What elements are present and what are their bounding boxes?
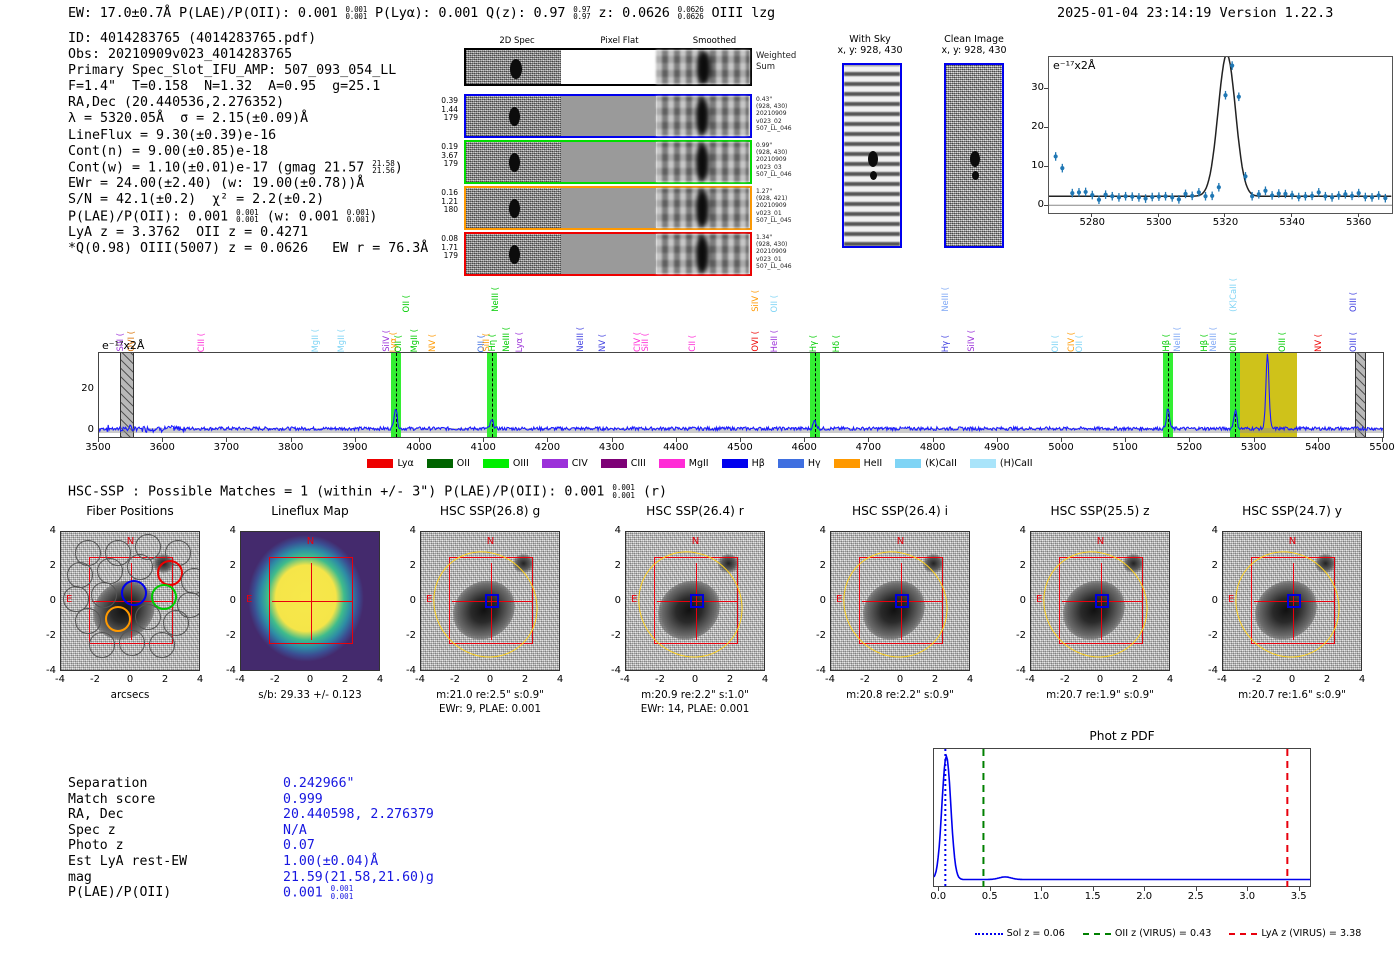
fiber-2dspec	[466, 188, 561, 228]
spectrum-xtick: 5300	[1234, 442, 1274, 453]
fiber-circle	[97, 558, 123, 584]
fiber-strip-metrics: 0.193.67179	[422, 143, 458, 169]
table-value: 0.999	[283, 792, 323, 808]
fiber-smoothed	[656, 234, 749, 274]
panel-image: NE	[420, 531, 560, 671]
panel-title: HSC SSP(25.5) z	[1030, 504, 1170, 518]
panel-ytick: 4	[806, 525, 826, 536]
detection-marker	[1095, 594, 1109, 607]
crosshair-horizontal	[272, 601, 353, 602]
plae-ratio-bounds: 0.0010.001	[345, 6, 367, 21]
info-ewr: EWr = 24.00(±2.40) (w: 19.00(±0.78))Å	[68, 176, 428, 192]
panel-ytick: 2	[1198, 560, 1218, 571]
legend-label: Lyα	[397, 458, 413, 469]
spectrum-legend-item: OII	[427, 458, 470, 469]
hsc-panel[interactable]: Lineflux MapNE-4-4-2-2002244s/b: 29.33 +…	[240, 531, 380, 671]
panel-ytick: -4	[601, 665, 621, 676]
emission-line-label: (K)CaII (	[1228, 278, 1238, 312]
fiber-2dspec	[466, 142, 561, 182]
fiber-strip	[464, 94, 752, 138]
fiber-pixelflat	[561, 96, 656, 136]
header-z-suffix: OIII lzg	[704, 5, 775, 21]
zoom-plot-units: e⁻¹⁷x2Å	[1053, 59, 1095, 72]
photz-pdf-title: Phot z PDF	[933, 729, 1311, 743]
panel-xtick: 2	[716, 674, 744, 685]
photz-xtick: 2.5	[1178, 891, 1214, 902]
emission-line-label: OII (	[1074, 335, 1084, 352]
hsc-panel[interactable]: Fiber PositionsNE-4-4-2-2002244arcsecs	[60, 531, 200, 671]
info-sn-chi2: S/N = 42.1(±0.2) χ² = 2.2(±0.2)	[68, 192, 428, 208]
info-plae-bounds: 0.0010.001	[236, 209, 259, 224]
info-cont-n: Cont(n) = 9.00(±0.85)e-18	[68, 144, 428, 160]
panel-ytick: 4	[36, 525, 56, 536]
clean-image-title: Clean Image x, y: 928, 430	[918, 34, 1030, 56]
fiber-circle	[89, 632, 115, 658]
panel-title: HSC SSP(26.4) r	[625, 504, 765, 518]
panel-caption-1: s/b: 29.33 +/- 0.123	[222, 689, 398, 702]
spectrum-xtick: 4900	[977, 442, 1017, 453]
spectrum-ytick: 0	[72, 424, 94, 435]
panel-xtick: -2	[441, 674, 469, 685]
fiber-strip-id: 0.43"(928, 430)20210909v023_02507_LL_046	[756, 96, 816, 132]
panel-xtick: 0	[296, 674, 324, 685]
panel-caption-1: arcsecs	[42, 689, 218, 702]
z-bounds: 0.06260.0626	[678, 6, 704, 21]
spectrum-ytick: 20	[72, 383, 94, 394]
emission-line-label: MgII (	[310, 329, 320, 352]
emission-line-label: OIII (	[1348, 292, 1358, 312]
photz-legend-item: OII z (VIRUS) = 0.43	[1083, 928, 1212, 939]
montage-col-title-2dspec: 2D Spec	[462, 36, 572, 46]
legend-swatch	[834, 459, 860, 468]
panel-xtick: 2	[331, 674, 359, 685]
fiber-circle	[149, 632, 175, 658]
fiber-strip-id: 1.27"(928, 421)20210909v023_01507_LL_045	[756, 188, 816, 224]
panel-xtick: 4	[546, 674, 574, 685]
panel-image: NE	[1222, 531, 1362, 671]
with-sky-title: With Sky x, y: 928, 430	[818, 34, 922, 56]
compass-east: E	[66, 594, 72, 605]
spectrum-legend-item: Hβ	[722, 458, 765, 469]
photz-xtick: 1.0	[1023, 891, 1059, 902]
compass-east: E	[426, 594, 432, 605]
panel-ytick: 4	[396, 525, 416, 536]
panel-ytick: -2	[216, 630, 236, 641]
spectrum-legend-item: Lyα	[367, 458, 413, 469]
panel-ytick: -2	[806, 630, 826, 641]
info-radec: RA,Dec (20.440536,2.276352)	[68, 95, 428, 111]
panel-ytick: 0	[396, 595, 416, 606]
fiber-circle	[127, 554, 153, 580]
fiber-circle	[181, 568, 200, 594]
panel-ytick: -4	[1006, 665, 1026, 676]
legend-label: (K)CaII	[925, 458, 957, 469]
info-plae-poii: P(LAE)/P(OII): 0.001 0.0010.001 (w: 0.00…	[68, 209, 428, 226]
emission-line-label: NeIII (	[501, 327, 511, 352]
panel-ytick: 0	[1198, 595, 1218, 606]
photz-legend-item: Sol z = 0.06	[975, 928, 1065, 939]
emission-line-label: OII (	[1050, 335, 1060, 352]
legend-label: OIII	[513, 458, 529, 469]
panel-image: NE	[240, 531, 380, 671]
photz-xtick: 3.0	[1229, 891, 1265, 902]
fiber-strip-metrics: 0.161.21180	[422, 189, 458, 215]
zoom-xtick: 5340	[1274, 217, 1310, 228]
panel-ytick: 0	[36, 595, 56, 606]
detection-marker	[895, 594, 909, 607]
panel-image: NE	[830, 531, 970, 671]
panel-ytick: 2	[1006, 560, 1026, 571]
fiber-smoothed	[656, 142, 749, 182]
spectrum-legend: LyαOIIOIIICIVCIIIMgIIHβHγHeII(K)CaII(H)C…	[0, 458, 1400, 469]
emission-line-label: Hη (	[487, 334, 497, 352]
with-sky-image	[842, 63, 902, 248]
emission-line-label: NeIII (	[575, 327, 585, 352]
compass-north: N	[487, 536, 494, 547]
table-key: Est LyA rest-EW	[68, 854, 187, 870]
hsc-panel[interactable]: HSC SSP(26.4) rNE-4-4-2-2002244m:20.9 re…	[625, 531, 765, 671]
fiber-strip-metrics: 0.081.71179	[422, 235, 458, 261]
panel-xtick: 2	[511, 674, 539, 685]
table-key: Match score	[68, 792, 155, 808]
fiber-circle	[105, 606, 131, 632]
hsc-plae-bounds: 0.0010.001	[612, 484, 635, 499]
spectrum-xtick: 4200	[527, 442, 567, 453]
weighted-sum-2dspec	[466, 50, 561, 84]
info-obs: Obs: 20210909v023_4014283765	[68, 47, 428, 63]
panel-image: NE	[1030, 531, 1170, 671]
weighted-sum-strip	[464, 48, 752, 86]
legend-label: Hγ	[808, 458, 821, 469]
legend-swatch	[601, 459, 627, 468]
photz-xtick: 0.0	[920, 891, 956, 902]
panel-ytick: -4	[216, 665, 236, 676]
panel-ytick: -4	[806, 665, 826, 676]
montage-col-title-smoothed: Smoothed	[667, 36, 762, 46]
header-timestamp-version: 2025-01-04 23:14:19 Version 1.22.3	[1057, 5, 1333, 21]
panel-xtick: 2	[921, 674, 949, 685]
emission-line-label: NeIII (	[940, 287, 950, 312]
compass-north: N	[897, 536, 904, 547]
spectrum-legend-item: CIV	[542, 458, 588, 469]
table-key: P(LAE)/P(OII)	[68, 885, 171, 901]
fiber-pixelflat	[561, 234, 656, 274]
gmag-bounds: 21.5821.56	[372, 160, 395, 175]
compass-east: E	[631, 594, 637, 605]
compass-east: E	[836, 594, 842, 605]
panel-ytick: -2	[396, 630, 416, 641]
panel-caption-1: m:21.0 re:2.5" s:0.9"	[402, 689, 578, 702]
legend-line-swatch	[1229, 933, 1257, 935]
emission-line-label: CIII (	[196, 333, 206, 352]
fiber-strip-metrics: 0.391.44179	[422, 97, 458, 123]
panel-xtick: 4	[1348, 674, 1376, 685]
info-lineflux: LineFlux = 9.30(±0.39)e-16	[68, 128, 428, 144]
table-key: Spec z	[68, 823, 116, 839]
panel-ytick: -4	[1198, 665, 1218, 676]
panel-ytick: 0	[806, 595, 826, 606]
spectrum-legend-item: Hγ	[778, 458, 821, 469]
panel-xtick: 0	[476, 674, 504, 685]
emission-line-label: NeIII (	[1172, 327, 1182, 352]
table-value: 20.440598, 2.276379	[283, 807, 434, 823]
detection-marker	[485, 594, 499, 607]
table-value: 0.242966"	[283, 776, 354, 792]
panel-ytick: 4	[1006, 525, 1026, 536]
info-cont-w: Cont(w) = 1.10(±0.01)e-17 (gmag 21.57 21…	[68, 160, 428, 177]
weighted-sum-pixelflat	[561, 50, 656, 84]
photz-xtick: 2.0	[1126, 891, 1162, 902]
photz-legend-item: LyA z (VIRUS) = 3.38	[1229, 928, 1361, 939]
header-plya-qz: P(Lyα): 0.001 Q(z): 0.97	[367, 5, 573, 21]
legend-swatch	[659, 459, 685, 468]
zoom-xtick: 5280	[1074, 217, 1110, 228]
legend-swatch	[483, 459, 509, 468]
legend-label: OII z (VIRUS) = 0.43	[1115, 928, 1212, 939]
panel-caption-1: m:20.7 re:1.9" s:0.9"	[1012, 689, 1188, 702]
panel-xtick: -2	[1051, 674, 1079, 685]
panel-ytick: -2	[1198, 630, 1218, 641]
emission-line-label: Hγ (	[940, 335, 950, 352]
panel-xtick: 2	[151, 674, 179, 685]
panel-image: NE	[625, 531, 765, 671]
zoom-line-plot: e⁻¹⁷x2Å 528053005320534053600102030	[1048, 56, 1393, 238]
panel-xtick: -2	[1243, 674, 1271, 685]
panel-image: NE	[60, 531, 200, 671]
panel-ytick: 2	[36, 560, 56, 571]
table-value: 1.00(±0.04)Å	[283, 854, 378, 870]
legend-swatch	[367, 459, 393, 468]
emission-line-label: MgII (	[336, 329, 346, 352]
panel-title: HSC SSP(24.7) y	[1222, 504, 1362, 518]
panel-xtick: 2	[1121, 674, 1149, 685]
hsc-panel[interactable]: HSC SSP(24.7) yNE-4-4-2-2002244m:20.7 re…	[1222, 531, 1362, 671]
panel-ytick: -4	[36, 665, 56, 676]
zoom-ytick: 30	[1024, 82, 1044, 93]
fiber-circle	[67, 562, 93, 588]
spectrum-legend-item: MgII	[659, 458, 709, 469]
panel-ytick: 0	[601, 595, 621, 606]
spectrum-xtick: 3600	[142, 442, 182, 453]
legend-swatch	[427, 459, 453, 468]
zoom-ytick: 0	[1024, 199, 1044, 210]
emission-line-label: OII (	[393, 335, 403, 352]
fiber-pixelflat	[561, 188, 656, 228]
emission-line-label: Hβ (	[1161, 334, 1171, 352]
panel-ytick: 2	[396, 560, 416, 571]
hsc-ssp-header: HSC-SSP : Possible Matches = 1 (within +…	[68, 484, 667, 500]
hsc-panel[interactable]: HSC SSP(26.8) gNE-4-4-2-2002244m:21.0 re…	[420, 531, 560, 671]
spectrum-legend-item: (K)CaII	[895, 458, 957, 469]
fiber-strip-id: 0.99"(928, 430)20210909v023_03507_LL_046	[756, 142, 816, 178]
compass-north: N	[1097, 536, 1104, 547]
panel-ytick: -2	[36, 630, 56, 641]
compass-north: N	[307, 536, 314, 547]
compass-east: E	[246, 594, 252, 605]
info-id: ID: 4014283765 (4014283765.pdf)	[68, 31, 428, 47]
zoom-ytick: 20	[1024, 121, 1044, 132]
table-value: 0.07	[283, 838, 315, 854]
info-primary-spec-slot: Primary Spec_Slot_IFU_AMP: 507_093_054_L…	[68, 63, 428, 79]
spectrum-xtick: 4700	[848, 442, 888, 453]
emission-line-label: Hδ (	[831, 335, 841, 352]
panel-xtick: -2	[81, 674, 109, 685]
detection-marker	[690, 594, 704, 607]
fiber-2dspec	[466, 96, 561, 136]
fiber-smoothed	[656, 96, 749, 136]
panel-ytick: 0	[216, 595, 236, 606]
fiber-pixelflat	[561, 142, 656, 182]
weighted-sum-smoothed	[656, 50, 750, 84]
emission-line-label: NV (	[1313, 334, 1323, 352]
panel-ytick: 2	[216, 560, 236, 571]
legend-swatch	[970, 459, 996, 468]
photz-legend: Sol z = 0.06OII z (VIRUS) = 0.43LyA z (V…	[933, 928, 1400, 939]
zoom-xtick: 5320	[1207, 217, 1243, 228]
full-spectrum-plot: SiII (OVI (CIII (MgII (MgII (SiIV (Lyα (…	[98, 352, 1384, 438]
fiber-circle	[91, 582, 117, 608]
table-value: N/A	[283, 823, 307, 839]
info-plae-w-bounds: 0.0010.001	[347, 209, 370, 224]
legend-label: CIV	[572, 458, 588, 469]
panel-ytick: 4	[601, 525, 621, 536]
emission-line-label: HeII (	[769, 330, 779, 352]
panel-xtick: 2	[1313, 674, 1341, 685]
spectrum-xtick: 5000	[1041, 442, 1081, 453]
panel-ytick: 4	[1198, 525, 1218, 536]
photz-pdf-plot: 0.00.51.01.52.02.53.03.5	[933, 748, 1311, 909]
compass-north: N	[692, 536, 699, 547]
emission-line-label: CII (	[687, 335, 697, 352]
header-ew-plae: EW: 17.0±0.7Å P(LAE)/P(OII): 0.001	[68, 5, 345, 21]
panel-caption-2: EWr: 14, PLAE: 0.001	[607, 703, 783, 716]
emission-line-label: NV (	[597, 334, 607, 352]
legend-label: HeII	[864, 458, 883, 469]
info-fwhm-throughput: F=1.4" T=0.158 N=1.32 A=0.95 g=25.1	[68, 79, 428, 95]
emission-line-label: OII (	[401, 295, 411, 312]
legend-swatch	[722, 459, 748, 468]
panel-ytick: 4	[216, 525, 236, 536]
spectrum-xtick: 4300	[592, 442, 632, 453]
emission-line-label: Hγ (	[808, 335, 818, 352]
table-value: 21.59(21.58,21.60)g	[283, 870, 434, 886]
spectrum-legend-item: HeII	[834, 458, 883, 469]
hsc-panel[interactable]: HSC SSP(26.4) iNE-4-4-2-2002244m:20.8 re…	[830, 531, 970, 671]
detection-marker	[1287, 594, 1301, 607]
panel-xtick: 0	[1086, 674, 1114, 685]
photz-xtick: 3.5	[1281, 891, 1317, 902]
fiber-strip-id: 1.34"(928, 430)20210909v023_01507_LL_046	[756, 234, 816, 270]
fiber-strip	[464, 186, 752, 230]
spectrum-units: e⁻¹⁷x2Å	[102, 339, 144, 352]
fiber-circle	[119, 630, 145, 656]
table-key: RA, Dec	[68, 807, 124, 823]
legend-swatch	[895, 459, 921, 468]
legend-swatch	[542, 459, 568, 468]
compass-north: N	[127, 536, 134, 547]
panel-xtick: 4	[1156, 674, 1184, 685]
panel-xtick: 0	[886, 674, 914, 685]
compass-east: E	[1228, 594, 1234, 605]
zoom-xtick: 5300	[1141, 217, 1177, 228]
emission-line-label: MgII (	[409, 329, 419, 352]
hsc-panel[interactable]: HSC SSP(25.5) zNE-4-4-2-2002244m:20.7 re…	[1030, 531, 1170, 671]
panel-ytick: -4	[396, 665, 416, 676]
compass-north: N	[1289, 536, 1296, 547]
spectrum-xtick: 4400	[656, 442, 696, 453]
emission-line-label: OVI (	[750, 331, 760, 352]
legend-label: Sol z = 0.06	[1007, 928, 1065, 939]
fiber-2dspec	[466, 234, 561, 274]
emission-line-label: Lyα (	[514, 332, 524, 352]
montage-col-title-pixelflat: Pixel Flat	[572, 36, 667, 46]
crosshair-vertical	[311, 563, 312, 640]
panel-ytick: 0	[1006, 595, 1026, 606]
emission-line-label: NeIII (	[1208, 327, 1218, 352]
spectrum-legend-item: (H)CaII	[970, 458, 1033, 469]
panel-xtick: 4	[366, 674, 394, 685]
info-lya-oii-z: LyA z = 3.3762 OII z = 0.4271	[68, 225, 428, 241]
panel-caption-1: m:20.7 re:1.6" s:0.9"	[1204, 689, 1380, 702]
table-plae-bounds: 0.0010.001	[331, 885, 354, 900]
panel-xtick: -2	[646, 674, 674, 685]
panel-title: HSC SSP(26.8) g	[420, 504, 560, 518]
table-key: Photo z	[68, 838, 124, 854]
info-q-oiii-z: *Q(0.98) OIII(5007) z = 0.0626 EW r = 76…	[68, 241, 428, 257]
emission-line-label: OII (	[769, 295, 779, 312]
target-info-block: ID: 4014283765 (4014283765.pdf) Obs: 202…	[68, 31, 428, 257]
spectrum-legend-item: CIII	[601, 458, 646, 469]
emission-line-label: NeIII (	[490, 287, 500, 312]
spectrum-xtick: 5400	[1298, 442, 1338, 453]
panel-xtick: -2	[851, 674, 879, 685]
panel-xtick: 0	[681, 674, 709, 685]
fiber-circle	[157, 560, 183, 586]
table-key: mag	[68, 870, 92, 886]
spectrum-xtick: 4500	[720, 442, 760, 453]
emission-line-label: OIII (	[1277, 332, 1287, 352]
legend-line-swatch	[1083, 933, 1111, 935]
panel-caption-1: m:20.8 re:2.2" s:0.9"	[812, 689, 988, 702]
spectrum-xtick: 5100	[1105, 442, 1145, 453]
emission-line-label: OIII (	[1348, 332, 1358, 352]
panel-xtick: 4	[186, 674, 214, 685]
panel-ytick: 2	[806, 560, 826, 571]
emission-line-label: NV (	[427, 334, 437, 352]
panel-xtick: 0	[116, 674, 144, 685]
legend-label: (H)CaII	[1000, 458, 1033, 469]
spectrum-xtick: 3900	[335, 442, 375, 453]
emission-line-label: SiII (	[640, 333, 650, 352]
legend-line-swatch	[975, 933, 1003, 935]
panel-xtick: 4	[956, 674, 984, 685]
panel-xtick: 0	[1278, 674, 1306, 685]
panel-title: Lineflux Map	[240, 504, 380, 518]
legend-swatch	[778, 459, 804, 468]
spectrum-legend-item: OIII	[483, 458, 529, 469]
panel-caption-1: m:20.9 re:2.2" s:1.0"	[607, 689, 783, 702]
clean-image	[944, 63, 1004, 248]
spectrum-xtick: 4800	[913, 442, 953, 453]
weighted-sum-label: Weighted Sum	[756, 51, 796, 73]
spectrum-xtick: 3500	[78, 442, 118, 453]
spectrum-xtick: 5200	[1169, 442, 1209, 453]
fiber-circle	[75, 608, 101, 634]
fiber-strip	[464, 140, 752, 184]
info-wavelength-sigma: λ = 5320.05Å σ = 2.15(±0.09)Å	[68, 111, 428, 127]
zoom-xtick: 5360	[1341, 217, 1377, 228]
legend-label: CIII	[631, 458, 646, 469]
